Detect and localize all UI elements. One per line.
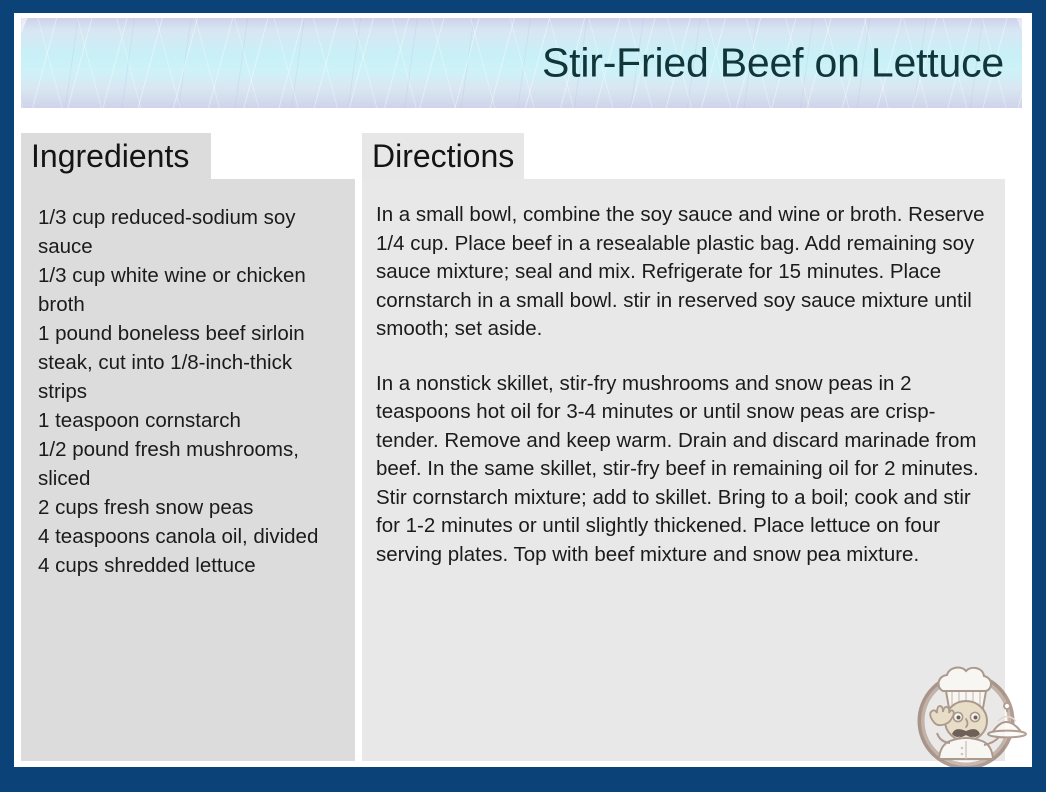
recipe-slide: Stir-Fried Beef on Lettuce Ingredients D… <box>0 0 1046 792</box>
ingredients-heading: Ingredients <box>31 140 189 172</box>
section-tab-ingredients: Ingredients <box>21 133 211 179</box>
ingredients-panel: 1/3 cup reduced-sodium soy sauce 1/3 cup… <box>21 179 355 761</box>
slide-page: Stir-Fried Beef on Lettuce Ingredients D… <box>14 13 1032 767</box>
direction-paragraph: In a nonstick skillet, stir-fry mushroom… <box>376 370 996 570</box>
directions-heading: Directions <box>372 140 514 172</box>
ingredients-list: 1/3 cup reduced-sodium soy sauce 1/3 cup… <box>38 203 346 580</box>
directions-body: In a small bowl, combine the soy sauce a… <box>376 201 996 595</box>
section-tab-directions: Directions <box>362 133 524 179</box>
chef-mascot-logo <box>906 655 1030 767</box>
page-title: Stir-Fried Beef on Lettuce <box>542 43 1004 84</box>
title-banner: Stir-Fried Beef on Lettuce <box>21 18 1022 108</box>
direction-paragraph: In a small bowl, combine the soy sauce a… <box>376 201 996 344</box>
